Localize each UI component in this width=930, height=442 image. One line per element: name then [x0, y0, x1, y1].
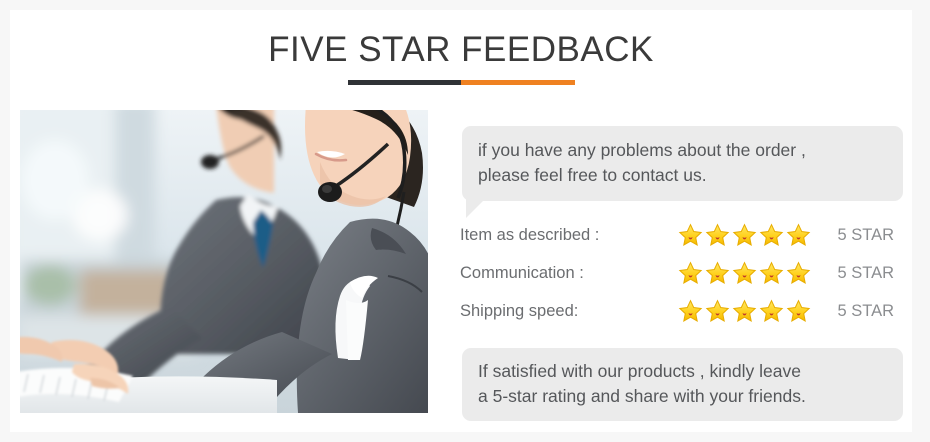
rating-row: Shipping speed: 5 STAR — [460, 292, 904, 330]
closing-note-box: If satisfied with our products , kindly … — [462, 348, 903, 421]
star-icon — [705, 223, 730, 248]
title-block: FIVE STAR FEEDBACK — [10, 28, 912, 85]
rating-row: Communication : 5 STAR — [460, 254, 904, 292]
rating-list: Item as described : 5 STAR Communication… — [460, 216, 904, 330]
star-icon — [678, 299, 703, 324]
star-icon — [786, 223, 811, 248]
title-underline-accent-segment — [461, 80, 575, 85]
star-icon — [678, 261, 703, 286]
title-underline — [348, 80, 575, 85]
rating-value-communication: 5 STAR — [818, 264, 904, 283]
rating-stars-shipping-speed — [678, 299, 818, 324]
contact-speech-bubble: if you have any problems about the order… — [462, 126, 903, 201]
rating-stars-item-as-described — [678, 223, 818, 248]
star-icon — [759, 299, 784, 324]
title-underline-dark-segment — [348, 80, 462, 85]
closing-note-line-2: a 5-star rating and share with your frie… — [478, 384, 887, 409]
page-title: FIVE STAR FEEDBACK — [10, 28, 912, 72]
speech-bubble-line-1: if you have any problems about the order… — [478, 138, 887, 163]
star-icon — [705, 299, 730, 324]
star-icon — [732, 299, 757, 324]
star-icon — [705, 261, 730, 286]
rating-label-shipping-speed: Shipping speed: — [460, 302, 678, 321]
closing-note-line-1: If satisfied with our products , kindly … — [478, 359, 887, 384]
rating-value-shipping-speed: 5 STAR — [818, 302, 904, 321]
rating-row: Item as described : 5 STAR — [460, 216, 904, 254]
rating-label-item-as-described: Item as described : — [460, 226, 678, 245]
customer-service-agents-photo — [20, 110, 428, 413]
rating-value-item-as-described: 5 STAR — [818, 226, 904, 245]
star-icon — [732, 261, 757, 286]
star-icon — [759, 261, 784, 286]
speech-bubble-line-2: please feel free to contact us. — [478, 163, 887, 188]
speech-bubble-tail — [466, 195, 489, 218]
rating-stars-communication — [678, 261, 818, 286]
star-icon — [786, 261, 811, 286]
feedback-banner-card: FIVE STAR FEEDBACK — [10, 10, 912, 432]
star-icon — [759, 223, 784, 248]
star-icon — [678, 223, 703, 248]
feedback-panel: if you have any problems about the order… — [452, 110, 904, 413]
star-icon — [732, 223, 757, 248]
star-icon — [786, 299, 811, 324]
rating-label-communication: Communication : — [460, 264, 678, 283]
